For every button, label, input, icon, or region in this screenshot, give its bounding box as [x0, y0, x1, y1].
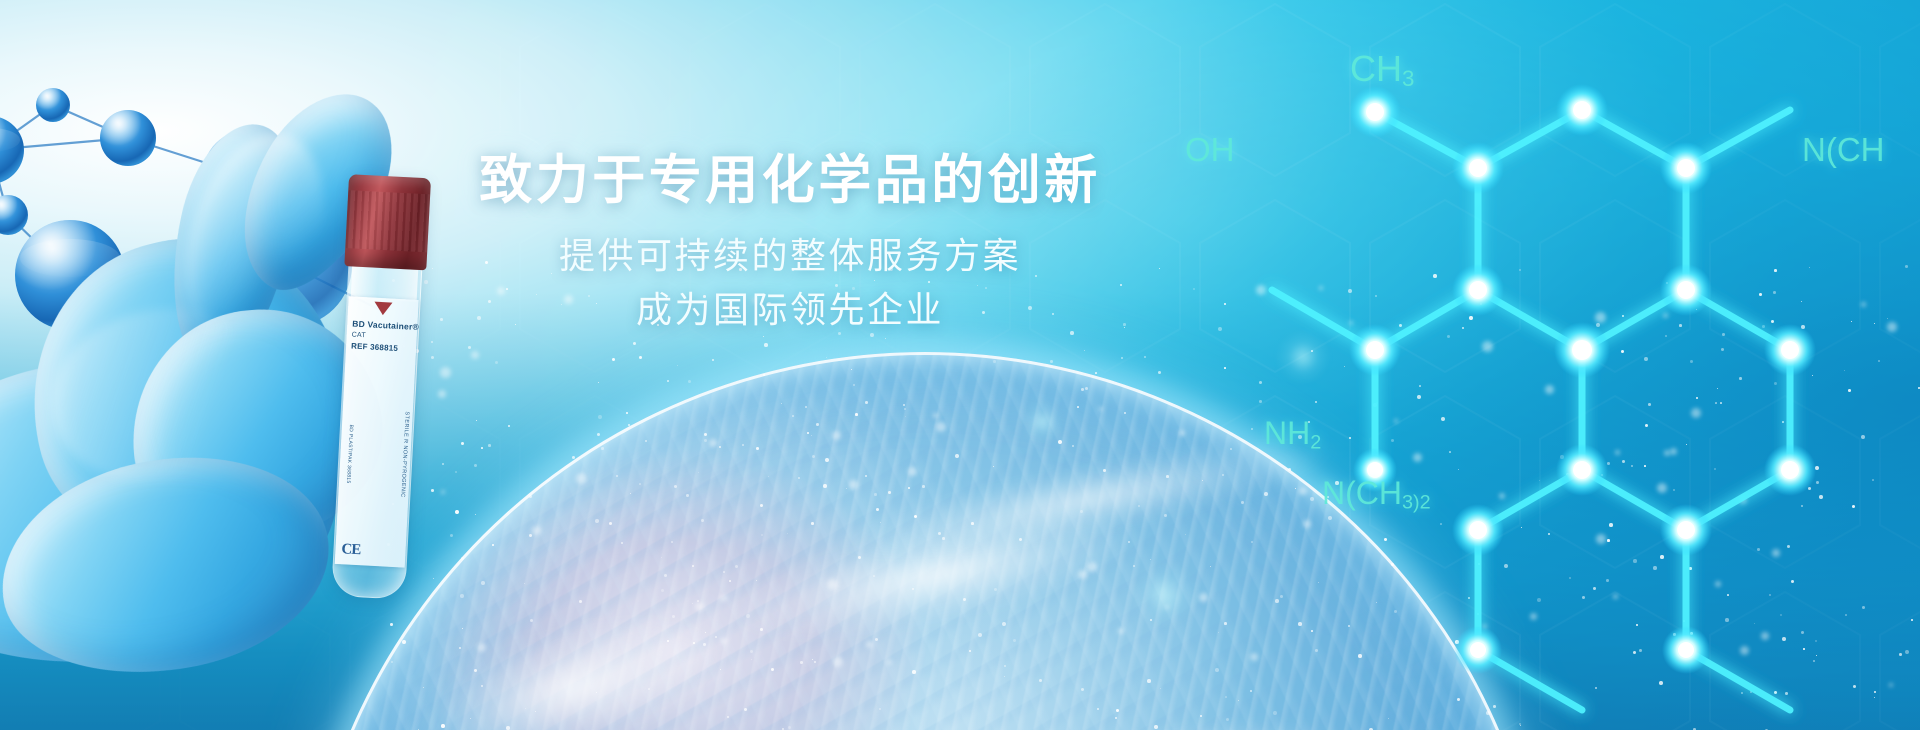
star-particle [1644, 465, 1646, 467]
star-particle [719, 446, 721, 448]
star-particle [1690, 360, 1693, 363]
star-particle [431, 341, 433, 343]
star-particle [481, 581, 485, 585]
lens-flare [1130, 560, 1200, 630]
bokeh-particle [1530, 613, 1537, 620]
hexagon-molecular-structure [1220, 0, 1920, 730]
star-particle [1144, 356, 1146, 358]
star-particle [698, 472, 699, 473]
bokeh-particle [1657, 483, 1667, 493]
star-particle [798, 477, 800, 479]
bokeh-particle [849, 480, 858, 489]
star-particle [1813, 660, 1815, 662]
star-particle [455, 510, 459, 514]
star-particle [760, 628, 763, 631]
star-particle [792, 415, 794, 417]
star-particle [1116, 709, 1119, 712]
star-particle [481, 447, 483, 449]
star-particle [1158, 371, 1161, 374]
star-particle [639, 356, 642, 359]
bokeh-particle [709, 439, 717, 447]
star-particle [1878, 360, 1880, 362]
star-particle [693, 642, 695, 644]
star-particle [1384, 538, 1387, 541]
star-particle [391, 661, 393, 663]
star-particle [692, 603, 693, 604]
star-particle [1085, 387, 1088, 390]
bokeh-particle [1165, 605, 1169, 609]
star-particle [476, 420, 477, 421]
hexagon-watermark-pattern [0, 0, 1920, 730]
star-particle [1582, 366, 1583, 367]
star-particle [390, 623, 393, 626]
glove-lower-fingers [0, 433, 346, 697]
star-particle [922, 485, 925, 488]
star-particle [1569, 577, 1571, 579]
bokeh-particle [1394, 419, 1398, 423]
bokeh-particle [471, 351, 479, 359]
star-particle [1210, 566, 1211, 567]
star-particle [703, 643, 706, 646]
star-particle [781, 403, 782, 404]
star-particle [661, 589, 664, 592]
star-particle [1150, 619, 1152, 621]
star-particle [1725, 618, 1729, 622]
star-particle [1315, 401, 1317, 403]
star-particle [616, 475, 618, 477]
star-particle [572, 456, 575, 459]
star-particle [1200, 715, 1202, 717]
banner-subline-1: 提供可持续的整体服务方案 [0, 229, 1580, 284]
star-particle [1154, 725, 1158, 729]
star-particle [1801, 505, 1803, 507]
bokeh-particle [1691, 408, 1701, 418]
star-particle [875, 638, 878, 641]
star-particle [530, 619, 533, 622]
star-particle [488, 444, 491, 447]
star-particle [415, 349, 419, 353]
star-particle [1774, 382, 1777, 385]
star-particle [1593, 587, 1596, 590]
star-particle [1785, 692, 1788, 695]
star-particle [524, 583, 525, 584]
star-particle [1419, 385, 1421, 387]
star-particle [1781, 461, 1783, 463]
bokeh-particle [1613, 594, 1618, 599]
star-particle [1780, 614, 1782, 616]
star-particle [1819, 495, 1823, 499]
star-particle [1911, 619, 1913, 621]
bokeh-particle [1596, 534, 1606, 544]
star-particle [701, 519, 704, 522]
star-particle [455, 471, 457, 473]
bokeh-particle [1889, 683, 1893, 687]
star-particle [1358, 654, 1362, 658]
star-particle [873, 575, 875, 577]
star-particle [460, 594, 464, 598]
star-particle [1601, 474, 1603, 476]
star-particle [1548, 533, 1550, 535]
star-particle [787, 533, 788, 534]
star-particle [1787, 545, 1790, 548]
star-particle [1376, 602, 1377, 603]
earth-limb-glow [300, 352, 1550, 730]
star-particle [661, 557, 662, 558]
star-particle [1164, 514, 1167, 517]
star-particle [1058, 440, 1062, 444]
bokeh-particle [532, 526, 541, 535]
star-particle [1328, 516, 1332, 520]
star-particle [667, 380, 669, 382]
star-particle [742, 444, 744, 446]
star-particle [609, 522, 612, 525]
star-particle [387, 543, 390, 546]
star-particle [715, 636, 717, 638]
star-particle [1648, 403, 1651, 406]
star-particle [1455, 640, 1459, 644]
star-particle [1715, 402, 1717, 404]
star-particle [1644, 357, 1648, 361]
star-particle [768, 476, 769, 477]
star-particle [1394, 610, 1397, 613]
star-particle [1720, 402, 1722, 404]
star-particle [865, 401, 868, 404]
star-particle [459, 647, 461, 649]
star-particle [805, 406, 807, 408]
bokeh-particle [1413, 453, 1422, 462]
star-particle [1391, 439, 1394, 442]
star-particle [879, 708, 881, 710]
star-particle [474, 464, 477, 467]
star-particle [1298, 622, 1302, 626]
lens-flare [1276, 330, 1330, 384]
star-particle [912, 670, 916, 674]
lens-flare [1020, 400, 1064, 444]
star-particle [1757, 548, 1760, 551]
star-particle [630, 493, 631, 494]
star-particle [1477, 613, 1479, 615]
star-particle [1391, 563, 1394, 566]
star-particle [1660, 555, 1664, 559]
star-particle [1348, 625, 1350, 627]
star-particle [993, 466, 994, 467]
star-particle [811, 522, 814, 525]
star-particle [885, 338, 886, 339]
star-particle [1520, 725, 1521, 726]
cyan-light-wash [0, 0, 1920, 730]
star-particle [942, 537, 945, 540]
star-particle [761, 534, 763, 536]
star-particle [441, 724, 445, 728]
bokeh-particle [1099, 407, 1103, 411]
star-particle [1288, 468, 1291, 471]
star-particle [764, 343, 768, 347]
star-particle [1801, 631, 1804, 634]
bokeh-particle [1078, 570, 1087, 579]
star-particle [492, 544, 494, 546]
star-particle [826, 357, 827, 358]
star-particle [1853, 685, 1856, 688]
star-particle [1874, 697, 1875, 698]
star-particle [664, 574, 667, 577]
star-particle [1478, 563, 1480, 565]
bokeh-particle [576, 473, 587, 484]
star-particle [1019, 538, 1022, 541]
star-particle [461, 442, 464, 445]
star-particle [855, 413, 858, 416]
star-particle [1202, 480, 1203, 481]
star-particle [645, 440, 647, 442]
star-particle [688, 380, 691, 383]
star-particle [1458, 469, 1459, 470]
star-particle [1115, 717, 1117, 719]
star-particle [1004, 676, 1005, 677]
star-particle [729, 580, 731, 582]
banner-headline: 致力于专用化学品的创新 [0, 150, 1580, 213]
star-particle [1224, 622, 1227, 625]
star-particle [888, 491, 891, 494]
star-particle [1621, 350, 1624, 353]
star-particle [597, 433, 600, 436]
star-particle [938, 532, 941, 535]
star-particle [1295, 488, 1296, 489]
star-particle [1686, 444, 1687, 445]
star-particle [969, 650, 971, 652]
hero-banner: BD Vacutainer® CAT REF 368815 STERILE R … [0, 0, 1920, 730]
star-particle [633, 342, 636, 345]
star-particle [403, 345, 405, 347]
star-particle [1103, 469, 1106, 472]
star-particle [1072, 445, 1074, 447]
star-particle [697, 600, 699, 602]
star-particle [880, 522, 881, 523]
star-particle [1689, 567, 1692, 570]
earth-atmosphere-halo [274, 326, 1576, 730]
star-particle [723, 571, 725, 573]
star-particle [750, 650, 753, 653]
star-particle [601, 447, 604, 450]
ch3-label: CH3 [1350, 48, 1414, 92]
star-particle [1816, 655, 1817, 656]
star-particle [720, 669, 721, 670]
star-particle [506, 726, 510, 730]
star-particle [692, 565, 694, 567]
star-particle [1566, 473, 1569, 476]
star-particle [812, 659, 813, 660]
star-particle [598, 382, 599, 383]
star-particle [1721, 348, 1724, 351]
star-particle [876, 508, 879, 511]
star-particle [1872, 479, 1874, 481]
star-particle [1815, 640, 1817, 642]
star-particle [1717, 388, 1718, 389]
star-particle [1280, 595, 1283, 598]
vial-ref-text: REF 368815 [351, 341, 398, 352]
bokeh-particle [1087, 562, 1097, 572]
star-particle [450, 534, 453, 537]
star-particle [1080, 510, 1083, 513]
star-particle [686, 494, 689, 497]
star-particle [1791, 580, 1794, 583]
bokeh-particle [441, 490, 445, 494]
nh2-label: NH2 [1264, 415, 1321, 454]
star-particle [1607, 539, 1610, 542]
star-particle [1659, 681, 1663, 685]
star-particle [1816, 481, 1819, 484]
star-particle [671, 541, 673, 543]
star-particle [470, 718, 471, 719]
star-particle [811, 435, 812, 436]
star-particle [1782, 421, 1784, 423]
star-particle [1238, 700, 1239, 701]
star-particle [825, 458, 829, 462]
star-particle [853, 384, 855, 386]
n-ch3-2-label: N(CH3)2 [1322, 475, 1431, 514]
bokeh-particle [1545, 385, 1554, 394]
bokeh-particle [1250, 653, 1258, 661]
bokeh-particle [887, 660, 892, 665]
star-particle [1251, 428, 1253, 430]
star-particle [1138, 505, 1140, 507]
star-particle [1275, 599, 1279, 603]
star-particle [1631, 465, 1633, 467]
star-particle [746, 614, 750, 618]
star-particle [1774, 691, 1777, 694]
star-particle [1808, 487, 1811, 490]
star-particle [963, 598, 966, 601]
star-particle [1754, 623, 1755, 624]
bokeh-particle [908, 467, 917, 476]
bokeh-particle [1199, 593, 1208, 602]
vial-side-text: STERILE R NON-PYROGENIC [343, 408, 409, 497]
bokeh-particle [827, 579, 838, 590]
star-particle [1081, 388, 1084, 391]
star-particle [1852, 505, 1855, 508]
star-particle [846, 488, 847, 489]
star-particle [1215, 668, 1219, 672]
star-particle [1318, 582, 1319, 583]
star-particle [1673, 489, 1675, 491]
star-particle [912, 588, 914, 590]
star-particle [1504, 564, 1508, 568]
star-particle [1225, 696, 1227, 698]
bokeh-particle [721, 638, 727, 644]
star-particle [667, 640, 669, 642]
star-particle [1582, 596, 1585, 599]
banner-copy: 致力于专用化学品的创新 提供可持续的整体服务方案 成为国际领先企业 [0, 150, 1920, 338]
bokeh-particle [440, 367, 451, 378]
bokeh-particle [1761, 632, 1769, 640]
star-particle [1373, 403, 1377, 407]
bokeh-particle [1615, 450, 1620, 455]
bokeh-particle [1772, 549, 1780, 557]
star-particle [858, 556, 861, 559]
bokeh-particle [1670, 448, 1677, 455]
star-particle [468, 346, 471, 349]
star-particle [1639, 649, 1642, 652]
star-particle [814, 661, 816, 663]
star-particle [1750, 691, 1752, 693]
bokeh-particle [833, 657, 843, 667]
star-particle [677, 365, 678, 366]
star-particle [1714, 468, 1716, 470]
star-particle [1636, 624, 1638, 626]
star-particle [705, 632, 706, 633]
banner-subline-2: 成为国际领先企业 [0, 283, 1580, 338]
star-particle [1905, 650, 1909, 654]
star-particle [1690, 632, 1693, 635]
star-particle [735, 565, 738, 568]
star-particle [1222, 474, 1224, 476]
star-particle [1259, 400, 1262, 403]
star-particle [672, 615, 675, 618]
star-particle [1388, 718, 1389, 719]
star-particle [1595, 687, 1597, 689]
star-particle [1862, 606, 1865, 609]
star-particle [994, 588, 997, 591]
star-particle [788, 726, 791, 729]
glove-forearm [0, 332, 357, 687]
bokeh-particle [832, 431, 841, 440]
star-particle [1013, 639, 1016, 642]
star-particle [823, 484, 827, 488]
star-particle [1521, 527, 1522, 528]
star-particle [751, 659, 752, 660]
vial-side-text-2: BD PLASTIPAK 368815 [345, 424, 354, 483]
star-particle [525, 708, 526, 709]
starfield [0, 0, 1920, 730]
star-particle [1741, 692, 1743, 694]
bokeh-particle [720, 595, 727, 602]
star-particle [1815, 466, 1819, 470]
star-particle [598, 415, 602, 419]
star-particle [1457, 698, 1460, 701]
star-particle [903, 404, 905, 406]
star-particle [1449, 451, 1451, 453]
star-particle [1349, 437, 1351, 439]
star-particle [1128, 541, 1130, 543]
star-particle [1224, 367, 1226, 369]
star-particle [579, 600, 582, 603]
star-particle [760, 504, 763, 507]
star-particle [904, 408, 906, 410]
star-particle [1861, 435, 1865, 439]
star-particle [1519, 723, 1521, 725]
star-particle [639, 483, 641, 485]
star-particle [1185, 534, 1186, 535]
star-particle [595, 519, 599, 523]
star-particle [1311, 350, 1313, 352]
star-particle [529, 534, 532, 537]
bokeh-particle [1299, 487, 1307, 495]
star-particle [1124, 412, 1126, 414]
star-particle [431, 356, 434, 359]
star-particle [621, 542, 623, 544]
star-particle [1782, 637, 1786, 641]
star-particle [800, 661, 803, 664]
star-particle [1084, 350, 1085, 351]
sky-gradient-overlay [0, 0, 1920, 730]
star-particle [1315, 649, 1318, 652]
star-particle [402, 640, 406, 644]
star-particle [905, 416, 906, 417]
star-particle [1376, 402, 1378, 404]
star-particle [481, 685, 483, 687]
bokeh-particle [1482, 624, 1487, 629]
star-particle [1899, 653, 1902, 656]
star-particle [1273, 711, 1277, 715]
star-particle [1673, 633, 1676, 636]
